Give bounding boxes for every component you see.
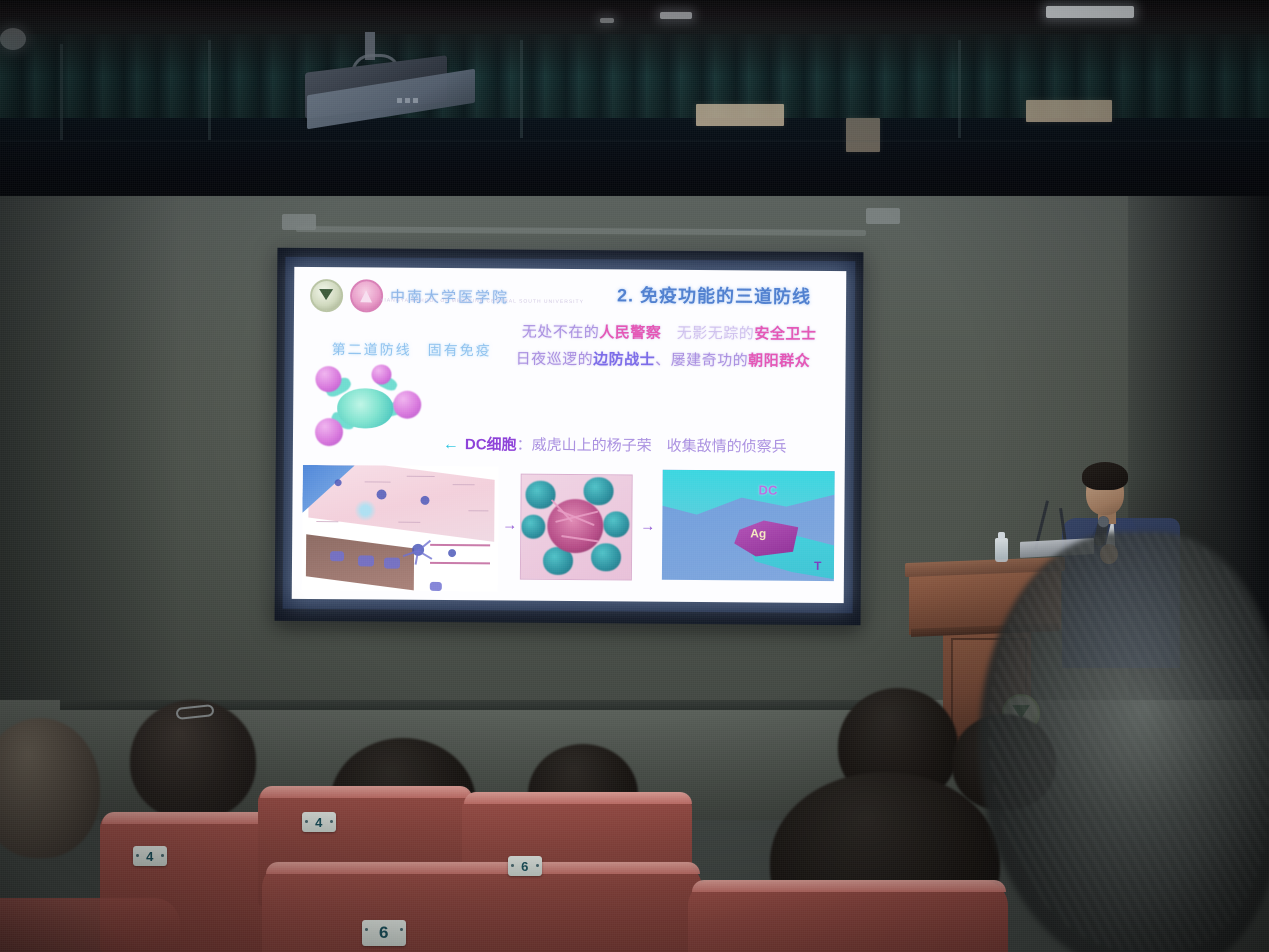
arrow-right-icon-2: → bbox=[640, 518, 655, 535]
medical-school-seal-icon bbox=[350, 279, 383, 312]
arrow-right-icon-1: → bbox=[502, 516, 517, 533]
screen-mount-right bbox=[866, 208, 900, 224]
seat-trim bbox=[692, 880, 1006, 892]
ceiling-projector bbox=[305, 48, 475, 130]
label-leader bbox=[468, 510, 488, 511]
dendritic-cell-illustration bbox=[309, 362, 430, 451]
lymphocyte bbox=[393, 391, 421, 419]
seat-trim bbox=[260, 786, 472, 798]
seat-number-plate: 4 bbox=[133, 846, 167, 866]
lymphocyte-teal bbox=[603, 511, 629, 537]
slide-dc-line: ←DC细胞：威虎山上的杨子荣 收集敌情的侦察兵 bbox=[443, 433, 787, 457]
cell-dot bbox=[376, 489, 386, 499]
presentation-slide: 中南大学医学院 XIANGYA SCHOOL OF MEDICINE CENTR… bbox=[292, 267, 847, 603]
slide-body-line-1: 无处不在的人民警察 无影无踪的安全卫士 bbox=[522, 321, 817, 344]
seat-trim bbox=[266, 862, 700, 874]
body-highlight: 人民警察 bbox=[599, 324, 661, 341]
body-part: 无处不在的 bbox=[522, 324, 600, 342]
figure-dc-antigen-t-cell: DC Ag T bbox=[662, 470, 835, 581]
screen-inner-frame: 中南大学医学院 XIANGYA SCHOOL OF MEDICINE CENTR… bbox=[283, 257, 856, 613]
dc-label: DC bbox=[759, 482, 778, 497]
ceiling-strut bbox=[958, 40, 961, 138]
body-part: 无影无踪的 bbox=[661, 325, 754, 343]
ceiling-panel bbox=[1026, 100, 1112, 122]
figure-tissue-migration-diagram bbox=[302, 465, 499, 592]
dc-bold-2: 侦察兵 bbox=[742, 438, 787, 455]
cell-shape bbox=[358, 555, 374, 566]
lymphocyte-teal bbox=[525, 481, 555, 509]
body-part: 日夜巡逻的 bbox=[516, 351, 594, 369]
cell-dot bbox=[448, 549, 456, 557]
dc-rest-1: 威虎山上的 bbox=[532, 437, 607, 455]
cell-dot bbox=[335, 479, 342, 486]
slide-left-label: 第二道防线 固有免疫 bbox=[332, 339, 492, 360]
slide-body-line-2: 日夜巡逻的边防战士、屡建奇功的朝阳群众 bbox=[516, 348, 811, 371]
ceiling-light bbox=[0, 28, 26, 50]
projection-screen: 中南大学医学院 XIANGYA SCHOOL OF MEDICINE CENTR… bbox=[275, 248, 864, 626]
label-leader bbox=[407, 476, 435, 477]
auditorium-seat bbox=[262, 862, 702, 952]
ceiling-light bbox=[600, 18, 614, 23]
ceiling-panel bbox=[846, 118, 880, 152]
projector-vent bbox=[405, 98, 410, 103]
label-leader bbox=[316, 521, 338, 522]
dc-colon: ： bbox=[517, 437, 532, 454]
ceiling-rail bbox=[0, 140, 1269, 142]
water-bottle bbox=[995, 538, 1008, 562]
antigen-burst-icon bbox=[354, 499, 376, 521]
projector-vent bbox=[397, 98, 402, 103]
seat-number-plate: 6 bbox=[508, 856, 542, 876]
cell-shape bbox=[330, 551, 344, 561]
body-highlight: 边防战士 bbox=[593, 351, 655, 368]
left-arrow-icon: ← bbox=[443, 436, 459, 453]
ceiling-light bbox=[660, 12, 692, 19]
seat-number-plate: 6 bbox=[362, 920, 406, 946]
university-seal-icon bbox=[310, 279, 343, 312]
ceiling-strut bbox=[520, 40, 523, 138]
auditorium-seat bbox=[0, 898, 180, 952]
upper-stage-dark-band bbox=[0, 118, 1269, 204]
dendritic-cell-core bbox=[547, 499, 603, 553]
lymphocyte-teal bbox=[521, 515, 545, 539]
slide-title: 2. 免疫功能的三道防线 bbox=[594, 281, 834, 309]
lymphocyte bbox=[315, 418, 343, 446]
slide-logo-row: 中南大学医学院 bbox=[310, 279, 509, 314]
lymphocyte bbox=[371, 364, 391, 384]
t-cell-label: T bbox=[814, 559, 821, 573]
wall-shadow-left bbox=[0, 196, 180, 756]
ag-label: Ag bbox=[750, 526, 766, 540]
label-leader bbox=[453, 484, 475, 485]
dc-key-term: DC细胞 bbox=[465, 436, 517, 453]
ceiling-light bbox=[1046, 6, 1134, 18]
ceiling-panel bbox=[696, 104, 784, 126]
projector-vent bbox=[413, 98, 418, 103]
blood-vessel bbox=[430, 544, 490, 564]
lymphocyte bbox=[315, 366, 341, 392]
dc-rest-2: 收集敌情的 bbox=[652, 438, 742, 456]
figure-dendritic-cell-micrograph bbox=[520, 474, 633, 581]
seat-trim bbox=[464, 792, 692, 804]
dc-membrane bbox=[662, 470, 834, 533]
seat-number-plate: 4 bbox=[302, 812, 336, 832]
ceiling-strut bbox=[208, 40, 211, 140]
body-highlight: 朝阳群众 bbox=[748, 352, 810, 369]
body-highlight: 安全卫士 bbox=[754, 325, 816, 342]
cell-dot bbox=[420, 496, 429, 505]
label-leader bbox=[365, 481, 391, 482]
lecture-hall-photo: 中南大学医学院 XIANGYA SCHOOL OF MEDICINE CENTR… bbox=[0, 0, 1269, 952]
presenter-hair bbox=[1082, 462, 1128, 490]
lymphocyte-teal bbox=[591, 543, 621, 571]
cell-shape bbox=[430, 582, 442, 591]
body-part: 、屡建奇功的 bbox=[655, 352, 748, 370]
dendritic-cell-body bbox=[337, 388, 393, 428]
dc-bold-1: 杨子荣 bbox=[607, 437, 652, 454]
ceiling-strut bbox=[60, 44, 63, 140]
label-leader bbox=[398, 522, 420, 523]
